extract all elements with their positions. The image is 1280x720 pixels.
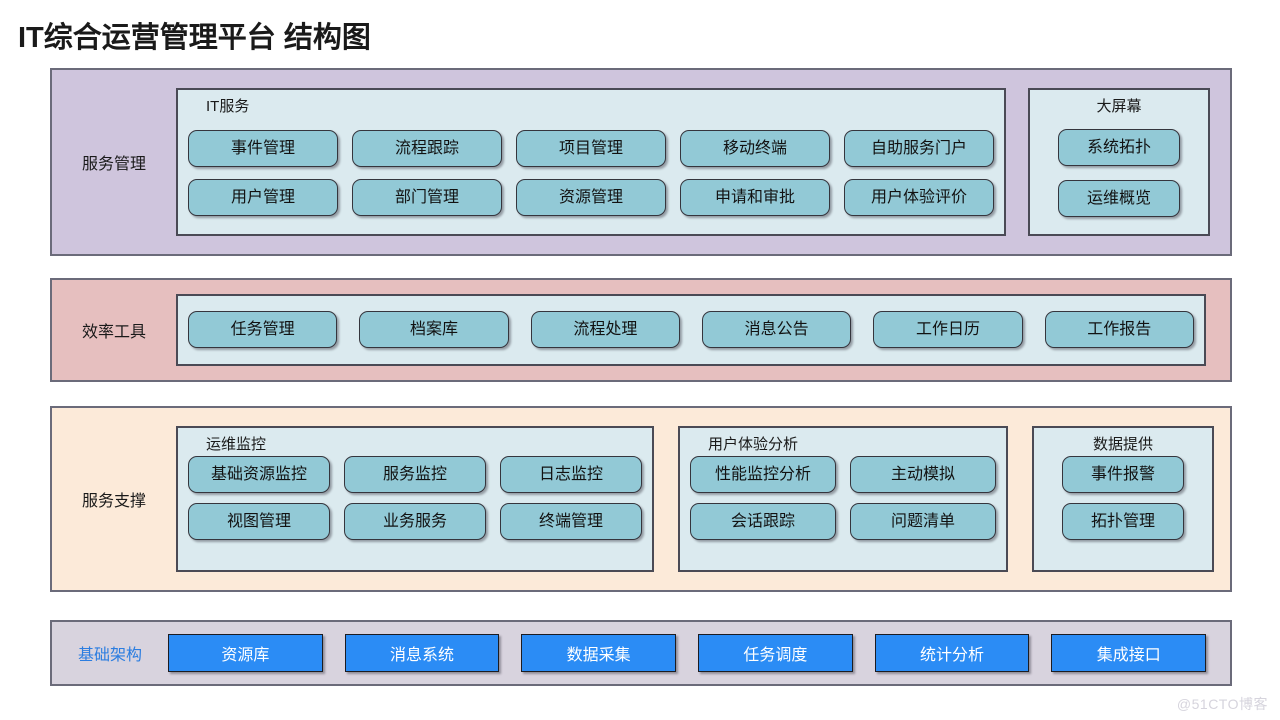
infra-row: 资源库 消息系统 数据采集 任务调度 统计分析 集成接口 (168, 634, 1230, 672)
node-work-report[interactable]: 工作报告 (1045, 311, 1194, 348)
panel-line: 性能监控分析 主动模拟 (690, 456, 996, 493)
node-performance-monitoring-analysis[interactable]: 性能监控分析 (690, 456, 836, 493)
panel-line: 拓扑管理 (1044, 503, 1202, 540)
panel-title-it-service: IT服务 (188, 96, 994, 118)
panel-line: 事件管理 流程跟踪 项目管理 移动终端 自助服务门户 (188, 130, 994, 167)
panel-line: 用户管理 部门管理 资源管理 申请和审批 用户体验评价 (188, 179, 994, 216)
node-ops-overview[interactable]: 运维概览 (1058, 180, 1180, 217)
watermark: @51CTO博客 (1177, 694, 1268, 714)
node-service-monitoring[interactable]: 服务监控 (344, 456, 486, 493)
panel-user-experience-analysis: 用户体验分析 性能监控分析 主动模拟 会话跟踪 问题清单 (678, 426, 1008, 572)
panel-line: 任务管理 档案库 流程处理 消息公告 工作日历 工作报告 (188, 311, 1194, 348)
node-terminal-management[interactable]: 终端管理 (500, 503, 642, 540)
node-application-and-approval[interactable]: 申请和审批 (680, 179, 830, 216)
node-task-scheduling[interactable]: 任务调度 (698, 634, 853, 672)
node-event-alarm[interactable]: 事件报警 (1062, 456, 1184, 493)
node-integration-interface[interactable]: 集成接口 (1051, 634, 1206, 672)
band-service-support: 服务支撑 运维监控 基础资源监控 服务监控 日志监控 视图管理 业务服务 终端管… (50, 406, 1232, 592)
node-view-management[interactable]: 视图管理 (188, 503, 330, 540)
panel-body-efficiency-tools: 任务管理 档案库 流程处理 消息公告 工作日历 工作报告 (188, 302, 1194, 356)
node-log-monitoring[interactable]: 日志监控 (500, 456, 642, 493)
node-business-service[interactable]: 业务服务 (344, 503, 486, 540)
node-work-calendar[interactable]: 工作日历 (873, 311, 1022, 348)
band-label-infrastructure: 基础架构 (52, 641, 168, 665)
band-infrastructure: 基础架构 资源库 消息系统 数据采集 任务调度 统计分析 集成接口 (50, 620, 1232, 686)
page-title: IT综合运营管理平台 结构图 (18, 14, 371, 56)
panel-big-screen: 大屏幕 系统拓扑 运维概览 (1028, 88, 1210, 236)
panel-efficiency-tools: 任务管理 档案库 流程处理 消息公告 工作日历 工作报告 (176, 294, 1206, 366)
panel-line: 会话跟踪 问题清单 (690, 503, 996, 540)
panel-it-service: IT服务 事件管理 流程跟踪 项目管理 移动终端 自助服务门户 用户管理 部门管… (176, 88, 1006, 236)
node-task-management[interactable]: 任务管理 (188, 311, 337, 348)
panel-line: 基础资源监控 服务监控 日志监控 (188, 456, 642, 493)
diagram-canvas: IT综合运营管理平台 结构图 服务管理 IT服务 事件管理 流程跟踪 项目管理 … (0, 0, 1280, 720)
panel-row-service-management: IT服务 事件管理 流程跟踪 项目管理 移动终端 自助服务门户 用户管理 部门管… (176, 70, 1234, 254)
panel-body-ops-monitoring: 基础资源监控 服务监控 日志监控 视图管理 业务服务 终端管理 (188, 456, 642, 562)
band-label-efficiency-tools: 效率工具 (52, 318, 176, 342)
panel-ops-monitoring: 运维监控 基础资源监控 服务监控 日志监控 视图管理 业务服务 终端管理 (176, 426, 654, 572)
panel-line: 事件报警 (1044, 456, 1202, 493)
node-user-management[interactable]: 用户管理 (188, 179, 338, 216)
band-efficiency-tools: 效率工具 任务管理 档案库 流程处理 消息公告 工作日历 工作报告 (50, 278, 1232, 382)
panel-body-data-provision: 事件报警 拓扑管理 (1044, 456, 1202, 562)
node-process-tracking[interactable]: 流程跟踪 (352, 130, 502, 167)
panel-line: 运维概览 (1040, 180, 1198, 217)
node-department-management[interactable]: 部门管理 (352, 179, 502, 216)
panel-body-big-screen: 系统拓扑 运维概览 (1040, 120, 1198, 226)
node-resource-library[interactable]: 资源库 (168, 634, 323, 672)
node-message-announcement[interactable]: 消息公告 (702, 311, 851, 348)
panel-line: 视图管理 业务服务 终端管理 (188, 503, 642, 540)
node-resource-management[interactable]: 资源管理 (516, 179, 666, 216)
node-process-handling[interactable]: 流程处理 (531, 311, 680, 348)
node-incident-management[interactable]: 事件管理 (188, 130, 338, 167)
node-data-collection[interactable]: 数据采集 (521, 634, 676, 672)
node-message-system[interactable]: 消息系统 (345, 634, 500, 672)
panel-title-big-screen: 大屏幕 (1040, 96, 1198, 118)
node-mobile-terminal[interactable]: 移动终端 (680, 130, 830, 167)
panel-body-user-experience-analysis: 性能监控分析 主动模拟 会话跟踪 问题清单 (690, 456, 996, 562)
node-self-service-portal[interactable]: 自助服务门户 (844, 130, 994, 167)
panel-row-efficiency-tools: 任务管理 档案库 流程处理 消息公告 工作日历 工作报告 (176, 280, 1230, 380)
band-label-service-management: 服务管理 (52, 150, 176, 174)
node-topology-management[interactable]: 拓扑管理 (1062, 503, 1184, 540)
panel-title-data-provision: 数据提供 (1044, 434, 1202, 456)
panel-title-user-experience-analysis: 用户体验分析 (690, 434, 996, 456)
node-session-tracking[interactable]: 会话跟踪 (690, 503, 836, 540)
panel-data-provision: 数据提供 事件报警 拓扑管理 (1032, 426, 1214, 572)
node-system-topology[interactable]: 系统拓扑 (1058, 129, 1180, 166)
node-statistical-analysis[interactable]: 统计分析 (875, 634, 1030, 672)
panel-row-service-support: 运维监控 基础资源监控 服务监控 日志监控 视图管理 业务服务 终端管理 用户体… (176, 408, 1238, 590)
band-service-management: 服务管理 IT服务 事件管理 流程跟踪 项目管理 移动终端 自助服务门户 用户管… (50, 68, 1232, 256)
node-issue-list[interactable]: 问题清单 (850, 503, 996, 540)
band-label-service-support: 服务支撑 (52, 487, 176, 511)
node-user-experience-evaluation[interactable]: 用户体验评价 (844, 179, 994, 216)
panel-line: 系统拓扑 (1040, 129, 1198, 166)
panel-title-ops-monitoring: 运维监控 (188, 434, 642, 456)
node-project-management[interactable]: 项目管理 (516, 130, 666, 167)
node-archive-library[interactable]: 档案库 (359, 311, 508, 348)
node-infrastructure-resource-monitoring[interactable]: 基础资源监控 (188, 456, 330, 493)
node-active-simulation[interactable]: 主动模拟 (850, 456, 996, 493)
panel-body-it-service: 事件管理 流程跟踪 项目管理 移动终端 自助服务门户 用户管理 部门管理 资源管… (188, 120, 994, 226)
